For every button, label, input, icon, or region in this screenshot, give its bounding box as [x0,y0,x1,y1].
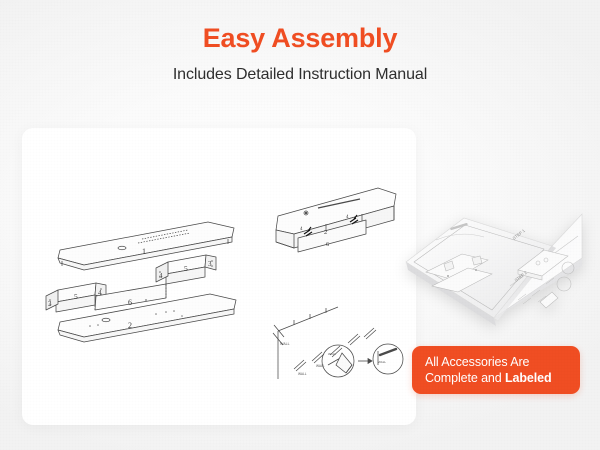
assembled-unit-diagram: 2 6 4 4 [270,186,400,264]
svg-text:WALL: WALL [378,360,386,364]
page-title: Easy Assembly [0,0,600,52]
svg-text:WALL: WALL [298,372,307,376]
svg-text:5: 5 [74,292,78,301]
svg-text:WALL: WALL [280,342,290,346]
wall-mount-hardware-diagram: WALL WALL WALL WALL [272,303,404,383]
svg-text:WALL: WALL [328,352,336,356]
svg-text:2: 2 [128,321,132,330]
svg-text:3: 3 [48,300,52,308]
accessories-badge: All Accessories Are Complete and Labeled [412,346,580,394]
diagram-card: 1 5 3 4 5 3 4 [22,128,416,425]
header: Easy Assembly Includes Detailed Instruct… [0,0,600,110]
badge-line-2: Complete and Labeled [425,370,580,386]
svg-text:4: 4 [159,272,163,280]
svg-text:5: 5 [184,264,188,273]
exploded-assembly-diagram: 1 5 3 4 5 3 4 [38,206,268,366]
badge-line-2-plain: Complete and [425,371,505,385]
badge-line-2-strong: Labeled [505,371,552,385]
svg-text:6: 6 [128,298,132,307]
svg-text:1: 1 [142,247,146,256]
svg-text:2: 2 [324,229,327,236]
badge-line-1: All Accessories Are [425,354,580,370]
page-subtitle: Includes Detailed Instruction Manual [0,52,600,83]
instruction-manual-photo: STEP 1 STEP 2 [392,192,588,332]
